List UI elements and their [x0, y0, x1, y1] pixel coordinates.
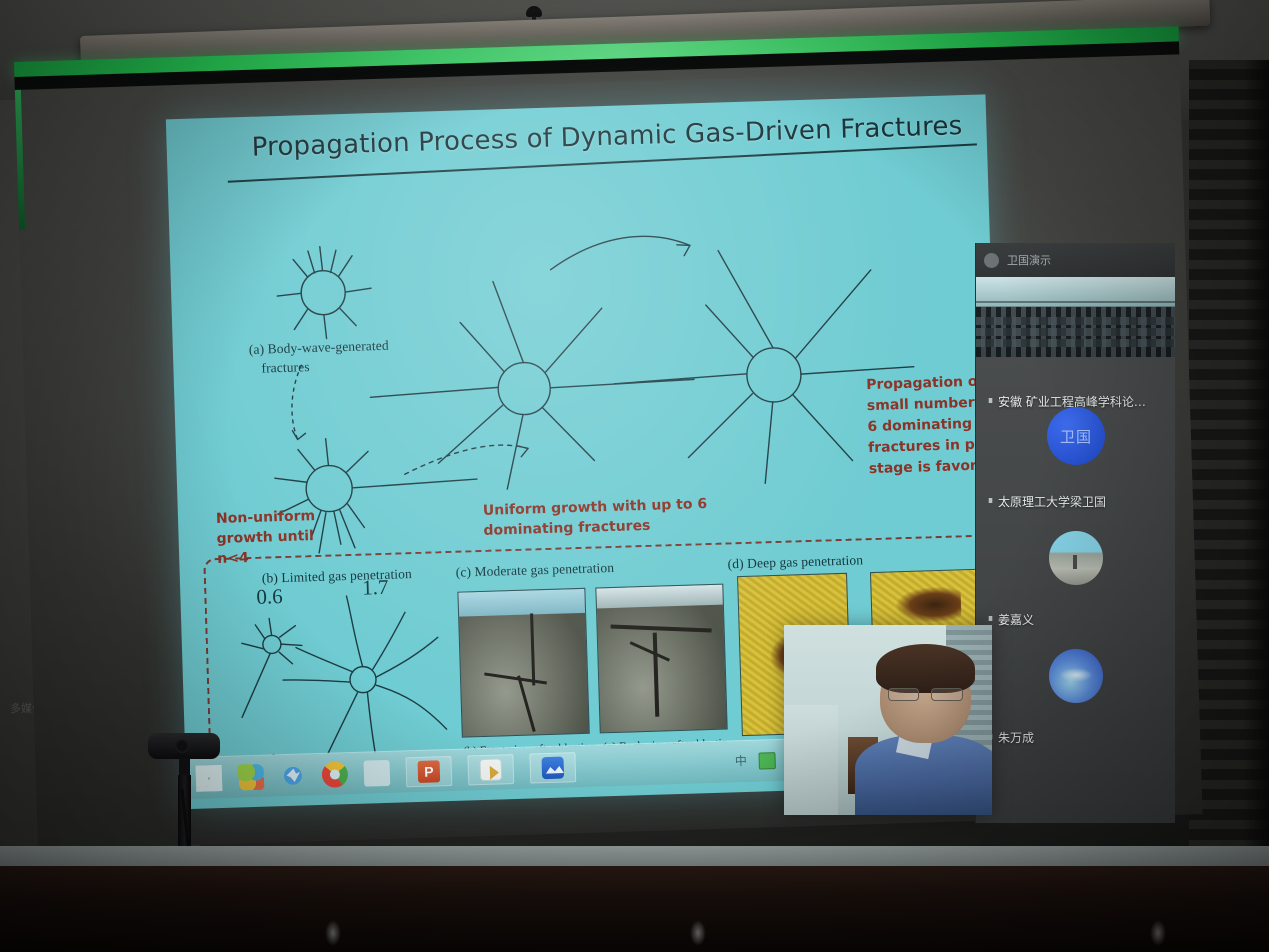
wall-base-strip [0, 846, 1269, 868]
battery-icon[interactable] [758, 752, 776, 770]
mic-muted-icon [986, 616, 995, 625]
screenshot-root: 多媒体控制 Propagation Process of Dynamic Gas… [0, 0, 1269, 952]
presenter-video-overlay[interactable] [784, 625, 992, 815]
podium [0, 866, 1269, 952]
media-player-icon [479, 758, 502, 781]
explorer-window-icon[interactable] [363, 759, 390, 786]
header-avatar [984, 253, 999, 268]
slide-title: Propagation Process of Dynamic Gas-Drive… [251, 111, 952, 162]
participant-name-1: 太原理工大学梁卫国 [986, 493, 1106, 510]
podium-light-1 [325, 920, 341, 946]
participant-avatar-initials: 卫国 [1047, 407, 1105, 465]
participant-avatar-photo-beach [1049, 531, 1103, 585]
wall-louvers-shadow [1243, 60, 1269, 860]
podium-light-2 [690, 920, 706, 946]
glasses-icon [888, 688, 963, 701]
powerpoint-window[interactable]: P [405, 755, 452, 786]
media-player-window[interactable] [467, 754, 514, 785]
photo-back-view [595, 584, 727, 734]
participant-tile-1[interactable]: 卫国 太原理工大学梁卫国 [976, 393, 1175, 517]
label-a-line2: fractures [261, 358, 310, 377]
meeting-app-window[interactable] [529, 752, 576, 783]
participant-video-thumbnail [976, 277, 1175, 357]
meeting-participants-panel[interactable]: 卫国演示 安徽 矿业工程高峰学科论… 卫国 [975, 243, 1175, 823]
header-participant-name: 卫国演示 [1007, 252, 1051, 268]
podium-light-3 [1150, 920, 1166, 946]
background-panel [784, 705, 838, 815]
annotation-left-line2: growth until [216, 526, 347, 550]
ime-indicator[interactable]: 中 [732, 753, 750, 771]
powerpoint-icon: P [418, 760, 441, 783]
participant-tile-2[interactable]: 姜嘉义 [976, 521, 1175, 635]
mic-muted-icon [986, 498, 995, 507]
presenter-hair [876, 644, 976, 693]
webcam-icon [148, 733, 220, 759]
meeting-panel-header: 卫国演示 [976, 243, 1175, 277]
bottom-fracture-sketch-svg [210, 570, 496, 778]
participant-tile-3[interactable]: 朱万成 [976, 639, 1175, 753]
chrome-icon[interactable] [322, 761, 349, 788]
participant-name-3: 朱万成 [986, 729, 1034, 746]
bird-app-icon[interactable] [280, 762, 307, 789]
participant-avatar-photo-sky [1049, 649, 1103, 703]
participant-name-2: 姜嘉义 [986, 611, 1034, 628]
photo-front-view [457, 588, 589, 738]
meeting-app-icon [541, 756, 564, 779]
